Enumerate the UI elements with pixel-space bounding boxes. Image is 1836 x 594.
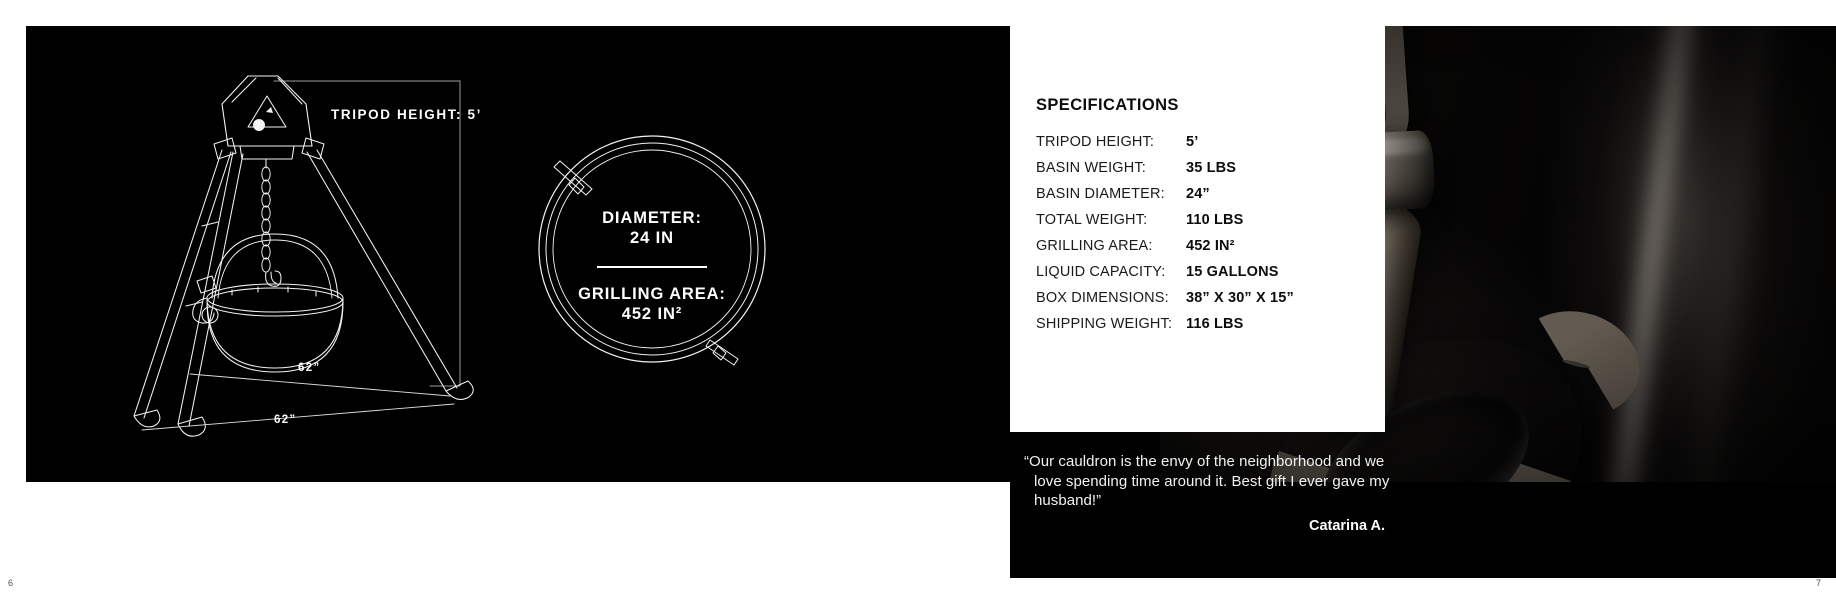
page-number-right: 7: [1816, 578, 1821, 588]
spec-row: SHIPPING WEIGHT: 116 LBS: [1036, 316, 1366, 342]
grilling-area-value: 452 IN²: [536, 304, 768, 324]
spec-label: GRILLING AREA:: [1036, 238, 1186, 254]
spec-value: 35 LBS: [1186, 160, 1236, 176]
spec-label: TOTAL WEIGHT:: [1036, 212, 1186, 228]
grilling-area-label: GRILLING AREA:: [536, 284, 768, 304]
spec-value: 38” X 30” X 15”: [1186, 290, 1294, 306]
spec-row: TRIPOD HEIGHT: 5’: [1036, 134, 1366, 160]
spec-row: BASIN DIAMETER: 24”: [1036, 186, 1366, 212]
diameter-value: 24 IN: [536, 228, 768, 248]
tripod-height-callout: TRIPOD HEIGHT: 5’: [331, 107, 482, 122]
spec-row: BASIN WEIGHT: 35 LBS: [1036, 160, 1366, 186]
spec-value: 5’: [1186, 134, 1198, 150]
spec-value: 452 IN²: [1186, 238, 1235, 254]
left-diagram-panel: TRIPOD HEIGHT: 5’ 62” 62” DIAMETER: 24 I…: [26, 26, 1010, 482]
callout-divider: [597, 266, 707, 268]
spec-label: TRIPOD HEIGHT:: [1036, 134, 1186, 150]
spec-row: TOTAL WEIGHT: 110 LBS: [1036, 212, 1366, 238]
specifications-card: SPECIFICATIONS TRIPOD HEIGHT: 5’ BASIN W…: [1010, 26, 1385, 432]
leg-dimension-upper-callout: 62”: [298, 362, 320, 374]
spec-row: BOX DIMENSIONS: 38” X 30” X 15”: [1036, 290, 1366, 316]
tripod-and-basin-line-drawing: [26, 26, 1010, 482]
basin-circle-callouts: DIAMETER: 24 IN GRILLING AREA: 452 IN²: [536, 208, 768, 324]
specifications-list: TRIPOD HEIGHT: 5’ BASIN WEIGHT: 35 LBS B…: [1036, 134, 1366, 342]
testimonial-block: “Our cauldron is the envy of the neighbo…: [1010, 452, 1395, 534]
spec-value: 15 GALLONS: [1186, 264, 1279, 280]
spec-row: GRILLING AREA: 452 IN²: [1036, 238, 1366, 264]
page-number-left: 6: [8, 578, 13, 588]
testimonial-author: Catarina A.: [1010, 518, 1395, 534]
spec-label: BOX DIMENSIONS:: [1036, 290, 1186, 306]
spec-label: BASIN WEIGHT:: [1036, 160, 1186, 176]
spec-value: 24”: [1186, 186, 1210, 202]
diameter-label: DIAMETER:: [536, 208, 768, 228]
product-spec-spread: TRIPOD HEIGHT: 5’ 62” 62” DIAMETER: 24 I…: [0, 0, 1836, 594]
spec-label: BASIN DIAMETER:: [1036, 186, 1186, 202]
specifications-title: SPECIFICATIONS: [1036, 96, 1179, 115]
leg-dimension-lower-callout: 62”: [274, 414, 296, 426]
testimonial-quote: “Our cauldron is the envy of the neighbo…: [1010, 452, 1395, 511]
spec-row: LIQUID CAPACITY: 15 GALLONS: [1036, 264, 1366, 290]
spec-value: 110 LBS: [1186, 212, 1243, 228]
spec-label: SHIPPING WEIGHT:: [1036, 316, 1186, 332]
spec-label: LIQUID CAPACITY:: [1036, 264, 1186, 280]
spec-value: 116 LBS: [1186, 316, 1243, 332]
